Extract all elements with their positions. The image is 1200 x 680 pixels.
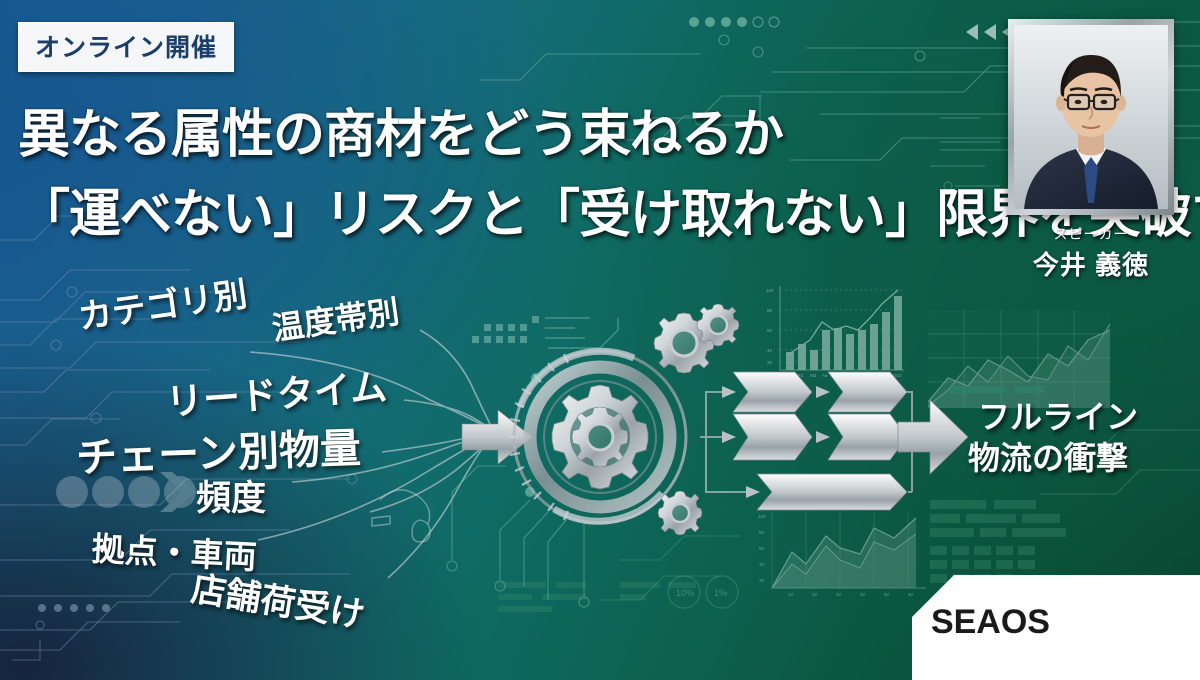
page-title-line1: 異なる属性の商材をどう束ねるか [18,92,783,167]
slide-canvas: 10%1% [0,0,1200,680]
svg-text:100: 100 [766,288,774,293]
circuit-traces-gear-bottom [447,466,589,607]
output-line2: 物流の衝撃 [968,433,1128,479]
svg-text:1%: 1% [714,588,727,598]
keyword-frequency: 頻度 [196,470,266,521]
chevron-markers-top [966,24,1014,40]
svg-text:10: 10 [788,592,794,597]
svg-text:30: 30 [836,592,842,597]
circuit-node-dots-gear [525,373,541,497]
gear-assembly [508,351,686,523]
logo-wordmark: SEAOS [931,603,1050,642]
headset-glyph [372,490,430,542]
svg-text:F2: F2 [798,373,804,378]
svg-text:J6: J6 [846,373,851,378]
svg-text:M3: M3 [810,373,817,378]
svg-text:A8: A8 [870,373,876,378]
keyword-temperature: 温度帯別 [269,286,402,349]
speaker-name: 今井 義徳 [1008,245,1174,282]
svg-text:40: 40 [860,592,866,597]
chart-bar-line: 1008060 4020 J1F2M3 A4M5J6 J7A8S9 O10 [766,286,904,378]
speaker-photo-frame [1008,19,1174,215]
svg-text:J1: J1 [786,373,791,378]
chevron-4 [828,414,907,460]
chart-area-bottom: 1008060 4020 102030 405060 [758,512,926,597]
gauge-icons [668,576,738,608]
chevron-1 [733,372,812,412]
chevron-2 [828,372,907,412]
svg-text:20: 20 [812,592,818,597]
process-flow [700,372,968,510]
chevron-5 [757,474,907,510]
svg-text:100: 100 [758,514,766,519]
svg-text:80: 80 [767,308,773,313]
svg-text:A4: A4 [822,373,828,378]
online-event-badge: オンライン開催 [18,22,234,72]
speaker-portrait [1014,25,1168,209]
svg-text:S9: S9 [882,373,888,378]
output-line1: フルライン [978,392,1138,438]
svg-text:20: 20 [767,360,773,365]
data-block-center-bottom [498,582,696,612]
keyword-store-receiving: 店舗荷受け [188,560,369,638]
circuit-dot-row-top [689,17,779,27]
data-block-right [930,500,1066,583]
svg-text:O10: O10 [893,373,902,378]
inbound-arrow-icon [462,410,532,464]
gear-main-icon [552,385,648,489]
svg-text:J7: J7 [858,373,863,378]
gear-small-upper-icon [654,313,714,373]
svg-text:10%: 10% [676,588,694,598]
svg-text:80: 80 [759,530,765,535]
gauge-labels: 10%1% [676,588,727,598]
svg-text:60: 60 [767,328,773,333]
gear-small-lower-icon [658,491,702,535]
speaker-role-label: スピーカー [1008,224,1174,244]
gear-small-top-icon [697,304,739,346]
circuit-dots-left [38,604,110,612]
svg-text:60: 60 [908,592,914,597]
pixel-block-center [472,316,539,343]
keyword-category: カテゴリ別 [75,267,250,339]
svg-text:40: 40 [767,348,773,353]
svg-text:40: 40 [759,562,765,567]
pixel-lines-center [545,318,618,348]
outbound-arrow-icon [898,400,968,474]
svg-text:20: 20 [759,578,765,583]
svg-text:60: 60 [759,546,765,551]
chevron-3 [733,414,812,460]
svg-text:50: 50 [884,592,890,597]
svg-text:M5: M5 [834,373,841,378]
